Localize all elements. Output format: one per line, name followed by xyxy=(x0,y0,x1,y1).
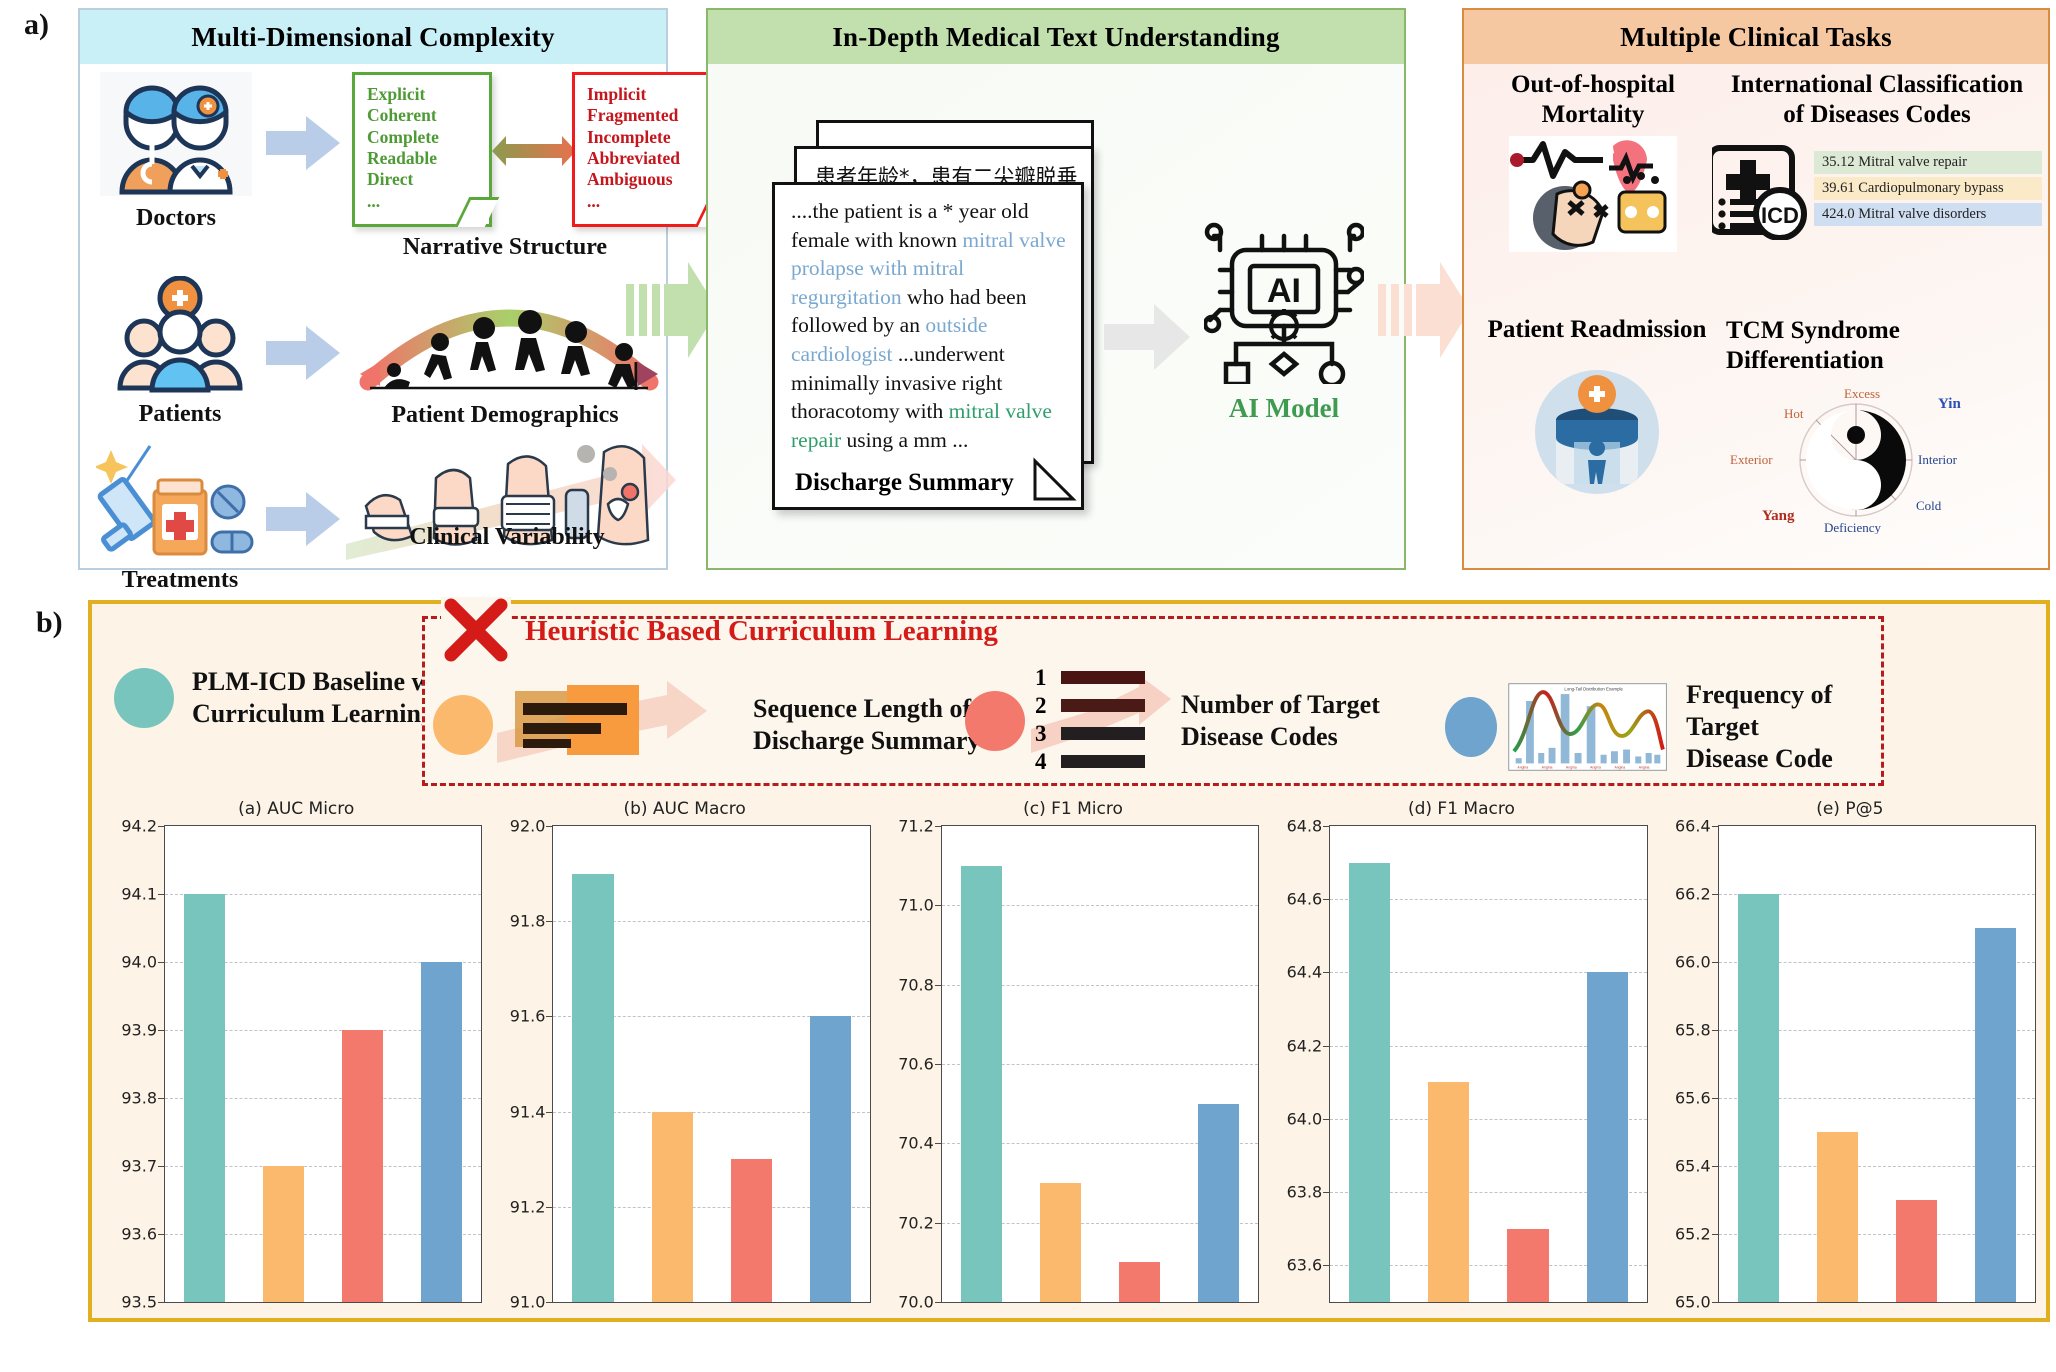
doc-line-10: repair xyxy=(791,428,841,452)
bar-slot xyxy=(1330,826,1409,1302)
note-good-1: Coherent xyxy=(367,105,479,126)
note-bad-4: Ambiguous xyxy=(587,169,719,190)
legend-numcodes-line2: Disease Codes xyxy=(1181,721,1380,753)
legend-label-baseline: PLM-ICD Baseline w/o Curriculum Learning xyxy=(192,666,451,729)
target-code-count-illustration: 1 2 3 4 xyxy=(1035,665,1165,777)
note-bad-0: Implicit xyxy=(587,84,719,105)
row-caption-clinical-variability: Clinical Variability xyxy=(340,524,674,551)
flow-chevron-2-icon xyxy=(1378,258,1470,362)
bar xyxy=(1507,1229,1548,1302)
arrow-treatments-to-variability xyxy=(266,492,340,546)
task-patient-readmission: Patient Readmission xyxy=(1472,316,1722,509)
doctors-group: Doctors xyxy=(96,70,256,232)
legend-label-frequency: Frequency of Target Disease Code xyxy=(1686,679,1881,774)
arrow-patients-to-demographics xyxy=(266,326,340,380)
y-tick-label: 63.6 xyxy=(1287,1256,1331,1275)
y-tick-label: 71.0 xyxy=(898,896,942,915)
bar xyxy=(1738,894,1779,1302)
task2-title-line2: of Diseases Codes xyxy=(1712,100,2042,130)
tcm-label-interior: Interior xyxy=(1918,452,1958,467)
row-caption-narrative-structure: Narrative Structure xyxy=(340,234,670,261)
box2-title: In-Depth Medical Text Understanding xyxy=(708,10,1404,64)
bars-container xyxy=(165,826,481,1302)
tcm-label-exterior: Exterior xyxy=(1730,452,1773,467)
doc-line-1: female with known xyxy=(791,228,962,252)
bar-slot xyxy=(1488,826,1567,1302)
in-depth-medical-text-understanding-box: In-Depth Medical Text Understanding 患者年龄… xyxy=(706,8,1406,570)
box3-title: Multiple Clinical Tasks xyxy=(1464,10,2048,64)
y-tick-label: 66.2 xyxy=(1675,885,1719,904)
icd-desc-0: Mitral valve repair xyxy=(1858,154,1967,170)
legend-seqlen-line2: Discharge Summary xyxy=(753,725,980,757)
y-tick-label: 64.4 xyxy=(1287,963,1331,982)
legend-freq-line1: Frequency of Target xyxy=(1686,679,1881,742)
yin-yang-diagram-icon: Excess Hot Exterior Yang Deficiency Cold… xyxy=(1726,384,2026,534)
y-tick-label: 70.6 xyxy=(898,1055,942,1074)
bar xyxy=(652,1112,693,1302)
y-tick-label: 64.0 xyxy=(1287,1109,1331,1128)
y-tick-label: 66.0 xyxy=(1675,953,1719,972)
legend-dot-frequency xyxy=(1445,697,1497,757)
row-caption-patient-demographics: Patient Demographics xyxy=(340,402,670,429)
doc-line-8: thoracotomy with xyxy=(791,399,949,423)
y-tick-label: 63.8 xyxy=(1287,1183,1331,1202)
red-cross-x-icon xyxy=(437,595,515,667)
multi-dimensional-complexity-box: Multi-Dimensional Complexity xyxy=(78,8,668,570)
patients-group: Patients xyxy=(96,276,264,428)
legend-freq-line2: Disease Code xyxy=(1686,743,1881,775)
y-tick-label: 70.0 xyxy=(898,1293,942,1312)
note-bad-2: Incomplete xyxy=(587,127,719,148)
heuristic-title: Heuristic Based Curriculum Learning xyxy=(525,615,998,648)
y-tick-label: 94.0 xyxy=(121,953,165,972)
y-tick-label: 91.8 xyxy=(510,912,554,931)
row-label-doctors: Doctors xyxy=(96,205,256,232)
bar-slot xyxy=(402,826,481,1302)
chart-3: (c) F1 Micro70.070.270.470.670.871.071.2 xyxy=(879,799,1267,1311)
y-tick-label: 93.7 xyxy=(121,1157,165,1176)
mortality-icon xyxy=(1509,136,1677,252)
icd-row-2: 424.0 Mitral valve disorders xyxy=(1814,203,2042,226)
legend-baseline-line1: PLM-ICD Baseline w/o xyxy=(192,666,451,698)
bar xyxy=(1119,1262,1160,1302)
task3-title: Patient Readmission xyxy=(1472,316,1722,344)
bar-slot xyxy=(323,826,402,1302)
doc-english-text: ....the patient is a * year old female w… xyxy=(791,197,1073,454)
plot-area: 70.070.270.470.670.871.071.2 xyxy=(941,825,1259,1303)
page-fold-icon xyxy=(1031,457,1077,503)
bars-container xyxy=(1330,826,1646,1302)
y-tick-label: 64.8 xyxy=(1287,817,1331,836)
bar xyxy=(184,894,225,1302)
y-tick-label: 93.6 xyxy=(121,1225,165,1244)
doc-line-2: mitral valve xyxy=(962,228,1065,252)
icd-desc-1: Cardiopulmonary bypass xyxy=(1858,180,2003,196)
bar xyxy=(1198,1104,1239,1302)
y-tick-label: 94.1 xyxy=(121,885,165,904)
bar-slot xyxy=(712,826,791,1302)
tcm-label-yang: Yang xyxy=(1762,508,1795,524)
multiple-clinical-tasks-box: Multiple Clinical Tasks Out-of-hospital … xyxy=(1462,8,2050,570)
icd-desc-2: Mitral valve disorders xyxy=(1858,206,1986,222)
doc-line-9: mitral valve xyxy=(949,399,1052,423)
rank-label-3: 3 xyxy=(1035,721,1047,747)
y-tick-label: 65.6 xyxy=(1675,1089,1719,1108)
tcm-label-excess: Excess xyxy=(1844,386,1880,401)
rank-label-4: 4 xyxy=(1035,749,1047,775)
bar-slot xyxy=(553,826,632,1302)
task1-title-line2: Mortality xyxy=(1478,100,1708,130)
svg-text:Angina: Angina xyxy=(1566,766,1577,770)
icd-row-0: 35.12 Mitral valve repair xyxy=(1814,151,2042,174)
thumbnail-title: Long-Tail Distribution Example xyxy=(1564,687,1623,692)
legend-item-frequency: Long-Tail Distribution Example xyxy=(1445,671,1881,783)
legend-dot-sequence-length xyxy=(433,695,493,755)
y-tick-label: 71.2 xyxy=(898,817,942,836)
bar xyxy=(342,1030,383,1302)
y-tick-label: 93.8 xyxy=(121,1089,165,1108)
treatments-group: Treatments xyxy=(96,440,264,594)
y-tick-label: 65.8 xyxy=(1675,1021,1719,1040)
note-bad-3: Abbreviated xyxy=(587,148,719,169)
svg-text:Angina: Angina xyxy=(1517,766,1528,770)
icd-code-2: 424.0 xyxy=(1822,206,1855,222)
doc-line-0: ....the patient is a * year old xyxy=(791,199,1029,223)
discharge-summary-document: ....the patient is a * year old female w… xyxy=(772,182,1084,510)
y-tick-label: 65.2 xyxy=(1675,1225,1719,1244)
bar xyxy=(810,1016,851,1302)
icd-code-0: 35.12 xyxy=(1822,154,1855,170)
legend-baseline-line2: Curriculum Learning xyxy=(192,698,451,730)
y-tick-label: 64.2 xyxy=(1287,1036,1331,1055)
legend-seqlen-line1: Sequence Length of xyxy=(753,693,980,725)
readmission-icon xyxy=(1522,354,1672,504)
rank-label-1: 1 xyxy=(1035,665,1047,691)
task-out-of-hospital-mortality: Out-of-hospital Mortality xyxy=(1478,70,1708,257)
bar xyxy=(421,962,462,1302)
plot-area: 63.663.864.064.264.464.664.8 xyxy=(1329,825,1647,1303)
bar xyxy=(1817,1132,1858,1302)
note-bad-1: Fragmented xyxy=(587,105,719,126)
y-tick-label: 94.2 xyxy=(121,817,165,836)
y-tick-label: 70.2 xyxy=(898,1213,942,1232)
legend-dot-num-codes xyxy=(965,691,1025,751)
y-tick-label: 91.2 xyxy=(510,1197,554,1216)
box1-title: Multi-Dimensional Complexity xyxy=(80,10,666,64)
arrow-doctors-to-narrative xyxy=(266,116,340,170)
y-tick-label: 70.4 xyxy=(898,1134,942,1153)
metric-charts-row: (a) AUC Micro93.593.693.793.893.994.094.… xyxy=(102,799,2044,1311)
bar-slot xyxy=(1956,826,2035,1302)
bar xyxy=(1040,1183,1081,1302)
rank-bar-4 xyxy=(1061,755,1145,768)
task4-title-line1: TCM Syndrome xyxy=(1726,316,2042,346)
rank-bar-1 xyxy=(1061,671,1145,684)
note-good-0: Explicit xyxy=(367,84,479,105)
task-icd-codes: International Classification of Diseases… xyxy=(1712,70,2042,240)
bar xyxy=(1428,1082,1469,1302)
bar xyxy=(1975,928,2016,1302)
legend-item-num-codes: 1 2 3 4 Number of Target Disease Codes xyxy=(965,665,1380,777)
y-tick-label: 66.4 xyxy=(1675,817,1719,836)
legend-label-sequence-length: Sequence Length of Discharge Summary xyxy=(753,693,980,756)
ai-model-label: AI Model xyxy=(1186,393,1382,424)
bar-slot xyxy=(1568,826,1647,1302)
bars-container xyxy=(1719,826,2035,1302)
bar-slot xyxy=(633,826,712,1302)
panel-b: PLM-ICD Baseline w/o Curriculum Learning… xyxy=(88,600,2050,1322)
y-tick-label: 64.6 xyxy=(1287,890,1331,909)
icd-code-list: 35.12 Mitral valve repair 39.61 Cardiopu… xyxy=(1814,151,2042,229)
ai-model-group: AI AI Model xyxy=(1186,214,1382,424)
bar xyxy=(263,1166,304,1302)
bar-slot xyxy=(1798,826,1877,1302)
svg-text:Angina: Angina xyxy=(1542,766,1553,770)
bars-container xyxy=(942,826,1258,1302)
bar-slot xyxy=(942,826,1021,1302)
row-label-patients: Patients xyxy=(96,401,264,428)
note-good-4: Direct xyxy=(367,169,479,190)
legend-item-sequence-length: Sequence Length of Discharge Summary xyxy=(433,677,980,773)
bar-slot xyxy=(1179,826,1258,1302)
note-good-2: Complete xyxy=(367,127,479,148)
bar-slot xyxy=(791,826,870,1302)
treatments-icon xyxy=(96,440,264,560)
tcm-label-cold: Cold xyxy=(1916,498,1942,513)
task1-title-line1: Out-of-hospital xyxy=(1478,70,1708,100)
svg-text:Angina: Angina xyxy=(1614,766,1625,770)
bar-slot xyxy=(1100,826,1179,1302)
icd-badge-label: ICD xyxy=(1761,203,1799,228)
icd-row-1: 39.61 Cardiopulmonary bypass xyxy=(1814,177,2042,200)
svg-text:Angina: Angina xyxy=(1590,766,1601,770)
y-tick-label: 70.8 xyxy=(898,975,942,994)
task2-title-line1: International Classification xyxy=(1712,70,2042,100)
tcm-label-yin: Yin xyxy=(1938,396,1961,412)
row-label-treatments: Treatments xyxy=(96,567,264,594)
bar xyxy=(572,874,613,1302)
peach-arrow-icon xyxy=(1031,675,1171,767)
patient-demographics-icon xyxy=(344,266,674,401)
y-tick-label: 92.0 xyxy=(510,817,554,836)
legend-numcodes-line1: Number of Target xyxy=(1181,689,1380,721)
bar-slot xyxy=(1021,826,1100,1302)
tcm-label-deficiency: Deficiency xyxy=(1824,520,1882,534)
y-tick-label: 91.0 xyxy=(510,1293,554,1312)
patients-icon xyxy=(96,276,264,394)
rank-bar-2 xyxy=(1061,699,1145,712)
bar-slot xyxy=(165,826,244,1302)
doc-line-7: minimally invasive right xyxy=(791,371,1002,395)
legend-item-baseline: PLM-ICD Baseline w/o Curriculum Learning xyxy=(114,666,451,729)
doctors-icon xyxy=(96,70,256,198)
bar-slot xyxy=(1409,826,1488,1302)
tcm-label-hot: Hot xyxy=(1784,406,1804,421)
y-tick-label: 93.5 xyxy=(121,1293,165,1312)
bar xyxy=(1587,972,1628,1302)
rank-bar-3 xyxy=(1061,727,1145,740)
arrow-doc-to-model xyxy=(1104,302,1190,372)
icd-code-1: 39.61 xyxy=(1822,180,1855,196)
y-tick-label: 65.4 xyxy=(1675,1157,1719,1176)
legend-dot-baseline xyxy=(114,668,174,728)
plot-area: 91.091.291.491.691.892.0 xyxy=(552,825,870,1303)
panel-a: a) Multi-Dimensional Complexity xyxy=(0,0,2056,590)
legend-label-num-codes: Number of Target Disease Codes xyxy=(1181,689,1380,752)
note-good-3: Readable xyxy=(367,148,479,169)
sequence-length-illustration-icon xyxy=(497,677,747,773)
y-tick-label: 91.6 xyxy=(510,1007,554,1026)
contrast-double-arrow-icon xyxy=(492,136,576,166)
bar-slot xyxy=(1719,826,1798,1302)
rank-label-2: 2 xyxy=(1035,693,1047,719)
y-tick-label: 65.0 xyxy=(1675,1293,1719,1312)
doc-line-6: ...underwent xyxy=(893,342,1005,366)
chart-5: (e) P@565.065.265.465.665.866.066.266.4 xyxy=(1656,799,2044,1311)
y-tick-label: 91.4 xyxy=(510,1102,554,1121)
panel-a-label: a) xyxy=(24,8,49,42)
bar xyxy=(961,866,1002,1302)
chart-2: (b) AUC Macro91.091.291.491.691.892.0 xyxy=(490,799,878,1311)
plot-area: 93.593.693.793.893.994.094.194.2 xyxy=(164,825,482,1303)
bar xyxy=(731,1159,772,1302)
note-bad-5: ... xyxy=(587,191,719,212)
ai-chip-icon: AI xyxy=(1204,214,1364,384)
bar xyxy=(1896,1200,1937,1302)
panel-b-label: b) xyxy=(36,606,63,640)
bar xyxy=(1349,863,1390,1302)
doc-line-11: using a mm ... xyxy=(841,428,968,452)
long-tail-distribution-thumbnail-icon: Long-Tail Distribution Example xyxy=(1507,671,1668,783)
bar-slot xyxy=(244,826,323,1302)
task-tcm-syndrome: TCM Syndrome Differentiation Excess xyxy=(1726,316,2042,539)
heuristic-curriculum-learning-group: Heuristic Based Curriculum Learning Sequ… xyxy=(422,616,1884,786)
svg-text:Angina: Angina xyxy=(1639,766,1650,770)
discharge-summary-caption: Discharge Summary xyxy=(795,469,1014,497)
task4-title-line2: Differentiation xyxy=(1726,346,2042,376)
bars-container xyxy=(553,826,869,1302)
narrative-positive-note: Explicit Coherent Complete Readable Dire… xyxy=(352,72,492,227)
ai-chip-label: AI xyxy=(1267,272,1301,310)
chart-1: (a) AUC Micro93.593.693.793.893.994.094.… xyxy=(102,799,490,1311)
icd-document-icon: ICD xyxy=(1712,140,1808,240)
plot-area: 65.065.265.465.665.866.066.266.4 xyxy=(1718,825,2036,1303)
flow-chevron-1-icon xyxy=(626,258,718,362)
y-tick-label: 93.9 xyxy=(121,1021,165,1040)
chart-4: (d) F1 Macro63.663.864.064.264.464.664.8 xyxy=(1267,799,1655,1311)
bar-slot xyxy=(1877,826,1956,1302)
